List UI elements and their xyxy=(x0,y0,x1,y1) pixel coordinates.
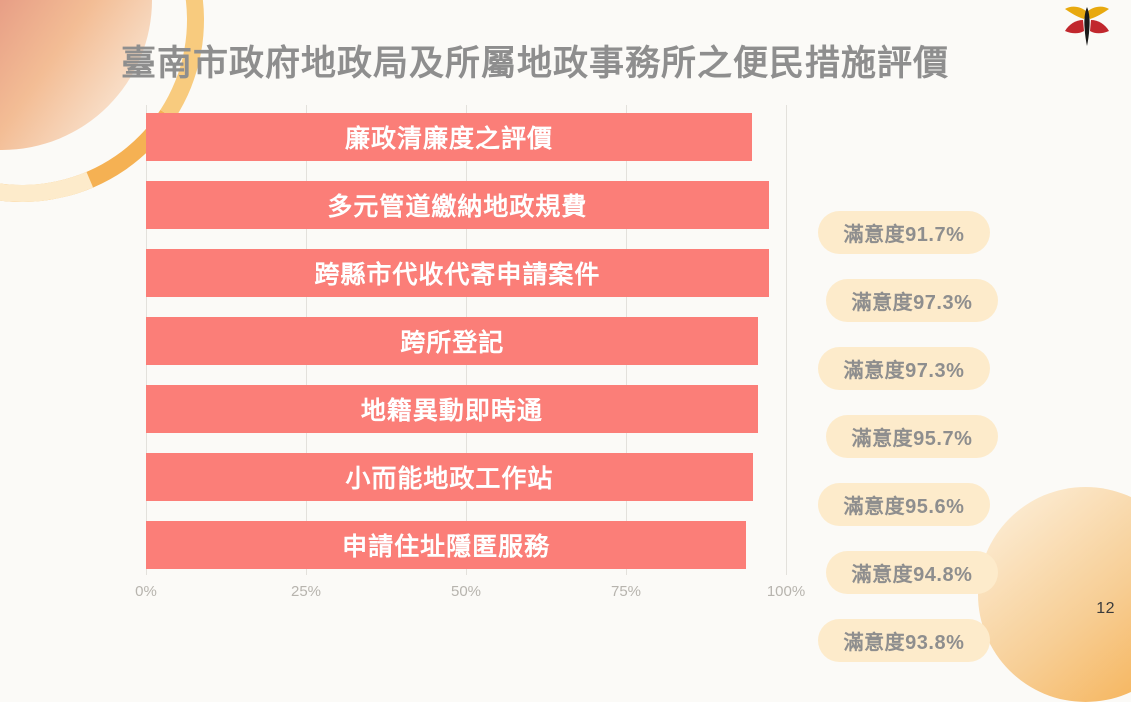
page-title: 臺南市政府地政局及所屬地政事務所之便民措施評價 xyxy=(121,35,949,86)
bar-row[interactable]: 多元管道繳納地政規費 xyxy=(146,181,769,229)
satisfaction-pill: 滿意度93.8% xyxy=(818,619,990,662)
x-axis-tick-label: 0% xyxy=(135,583,157,600)
horizontal-bar-chart: 廉政清廉度之評價多元管道繳納地政規費跨縣市代收代寄申請案件跨所登記地籍異動即時通… xyxy=(0,100,1131,624)
gridline-100 xyxy=(786,105,787,575)
bar-label: 小而能地政工作站 xyxy=(345,459,553,495)
x-axis-tick-label: 25% xyxy=(291,583,321,600)
bar-label: 廉政清廉度之評價 xyxy=(345,119,553,155)
x-axis-tick-label: 100% xyxy=(767,583,805,600)
bar-label: 申請住址隱匿服務 xyxy=(342,527,550,563)
satisfaction-pill: 滿意度95.6% xyxy=(818,483,990,526)
bar-label: 地籍異動即時通 xyxy=(361,391,543,427)
plot-area: 廉政清廉度之評價多元管道繳納地政規費跨縣市代收代寄申請案件跨所登記地籍異動即時通… xyxy=(146,105,786,575)
satisfaction-pill: 滿意度97.3% xyxy=(818,347,990,390)
x-axis-tick-label: 75% xyxy=(611,583,641,600)
bar-label: 跨所登記 xyxy=(400,323,504,359)
satisfaction-pill-list: 滿意度91.7%滿意度97.3%滿意度97.3%滿意度95.7%滿意度95.6%… xyxy=(818,200,1028,700)
satisfaction-pill: 滿意度97.3% xyxy=(826,279,998,322)
satisfaction-pill: 滿意度94.8% xyxy=(826,551,998,594)
bar-row[interactable]: 小而能地政工作站 xyxy=(146,453,753,501)
page-number: 12 xyxy=(1096,600,1115,618)
bar-label: 多元管道繳納地政規費 xyxy=(327,187,587,223)
bar-row[interactable]: 廉政清廉度之評價 xyxy=(146,113,752,161)
bar-row[interactable]: 跨縣市代收代寄申請案件 xyxy=(146,249,769,297)
bar-row[interactable]: 跨所登記 xyxy=(146,317,758,365)
bar-label: 跨縣市代收代寄申請案件 xyxy=(314,255,600,291)
x-axis: 0%25%50%75%100% xyxy=(146,583,786,613)
x-axis-tick-label: 50% xyxy=(451,583,481,600)
satisfaction-pill: 滿意度95.7% xyxy=(826,415,998,458)
bar-row[interactable]: 申請住址隱匿服務 xyxy=(146,521,746,569)
bar-row[interactable]: 地籍異動即時通 xyxy=(146,385,758,433)
bar-rows: 廉政清廉度之評價多元管道繳納地政規費跨縣市代收代寄申請案件跨所登記地籍異動即時通… xyxy=(146,105,786,575)
tainan-city-butterfly-orchid-logo xyxy=(1061,4,1113,50)
satisfaction-pill: 滿意度91.7% xyxy=(818,211,990,254)
